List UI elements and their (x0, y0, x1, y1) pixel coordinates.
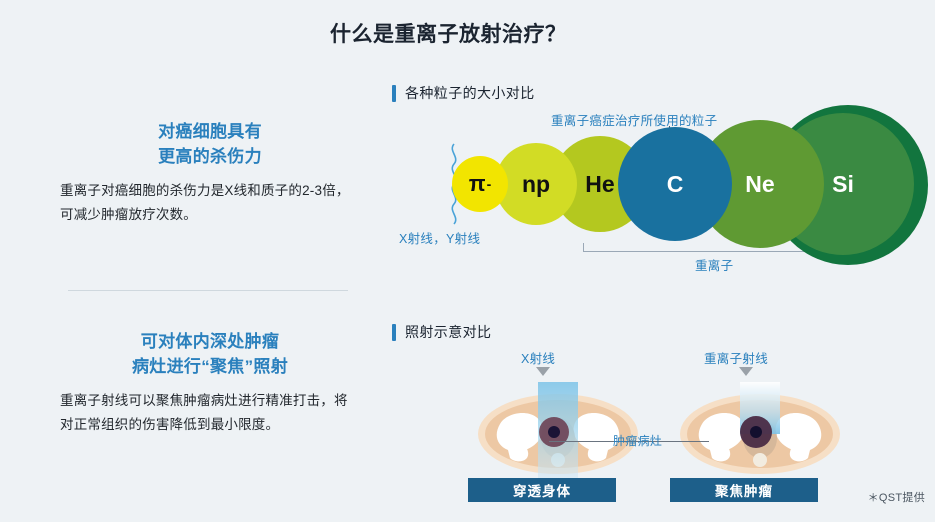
particle-label-he: He (585, 173, 614, 196)
left-block-2-body: 重离子射线可以聚焦肿瘤病灶进行精准打击，将对正常组织的伤害降低到最小限度。 (60, 389, 360, 436)
left-block-1-heading-line2: 更高的杀伤力 (158, 147, 262, 166)
left-block-1-body: 重离子对癌细胞的杀伤力是X线和质子的2-3倍，可减少肿瘤放疗次数。 (60, 179, 360, 226)
section-accent-bar-icon-2 (392, 324, 396, 341)
section-2-title: 照射示意对比 (405, 322, 491, 342)
xray-gamma-label: X射线，Y射线 (399, 228, 480, 247)
beam-label-xray: X射线 (521, 348, 555, 367)
left-block-1-heading: 对癌细胞具有 更高的杀伤力 (60, 120, 360, 169)
infographic-page: 什么是重离子放射治疗？ 对癌细胞具有 更高的杀伤力 重离子对癌细胞的杀伤力是X线… (0, 0, 935, 522)
section-accent-bar-icon (392, 85, 396, 102)
particle-label-si: Si (832, 173, 854, 196)
caption-focus-tumor: 聚焦肿瘤 (670, 478, 818, 502)
beam-arrow-left-icon (536, 367, 550, 376)
section-1-title: 各种粒子的大小对比 (405, 83, 535, 103)
footnote: ＊QST提供 (868, 489, 925, 505)
page-title: 什么是重离子放射治疗？ (330, 18, 567, 48)
particle-label-pi: π (469, 173, 486, 195)
left-block-2-heading-line2: 病灶进行“聚焦”照射 (132, 357, 288, 376)
particle-circle-c: C (618, 127, 732, 241)
caption-penetrate-body: 穿透身体 (468, 478, 616, 502)
beam-arrow-right-icon (739, 367, 753, 376)
body-cross-section-heavy-ion (670, 382, 850, 478)
section-divider (68, 290, 348, 291)
particle-circle-pi: π- (452, 156, 508, 212)
left-block-2: 可对体内深处肿瘤 病灶进行“聚焦”照射 重离子射线可以聚焦肿瘤病灶进行精准打击，… (60, 330, 360, 437)
particle-label-ne: Ne (745, 173, 774, 196)
body-cross-section-xray (468, 382, 648, 478)
left-block-1-heading-line1: 对癌细胞具有 (158, 122, 262, 141)
beam-label-heavy-ion: 重离子射线 (704, 348, 768, 367)
heavy-ion-bracket-label: 重离子 (695, 255, 733, 274)
left-block-1: 对癌细胞具有 更高的杀伤力 重离子对癌细胞的杀伤力是X线和质子的2-3倍，可减少… (60, 120, 360, 227)
particle-label-np: np (522, 173, 550, 196)
left-block-2-heading-line1: 可对体内深处肿瘤 (141, 332, 279, 351)
section-2-header: 照射示意对比 (392, 322, 491, 342)
left-block-2-heading: 可对体内深处肿瘤 病灶进行“聚焦”照射 (60, 330, 360, 379)
particle-label-c: C (667, 173, 684, 196)
particle-label-pi-superscript: - (487, 177, 492, 191)
particle-size-chart: Ar Si Ne He np C π- (420, 105, 920, 280)
tumor-label: 肿瘤病灶 (613, 432, 662, 449)
section-1-header: 各种粒子的大小对比 (392, 83, 535, 103)
